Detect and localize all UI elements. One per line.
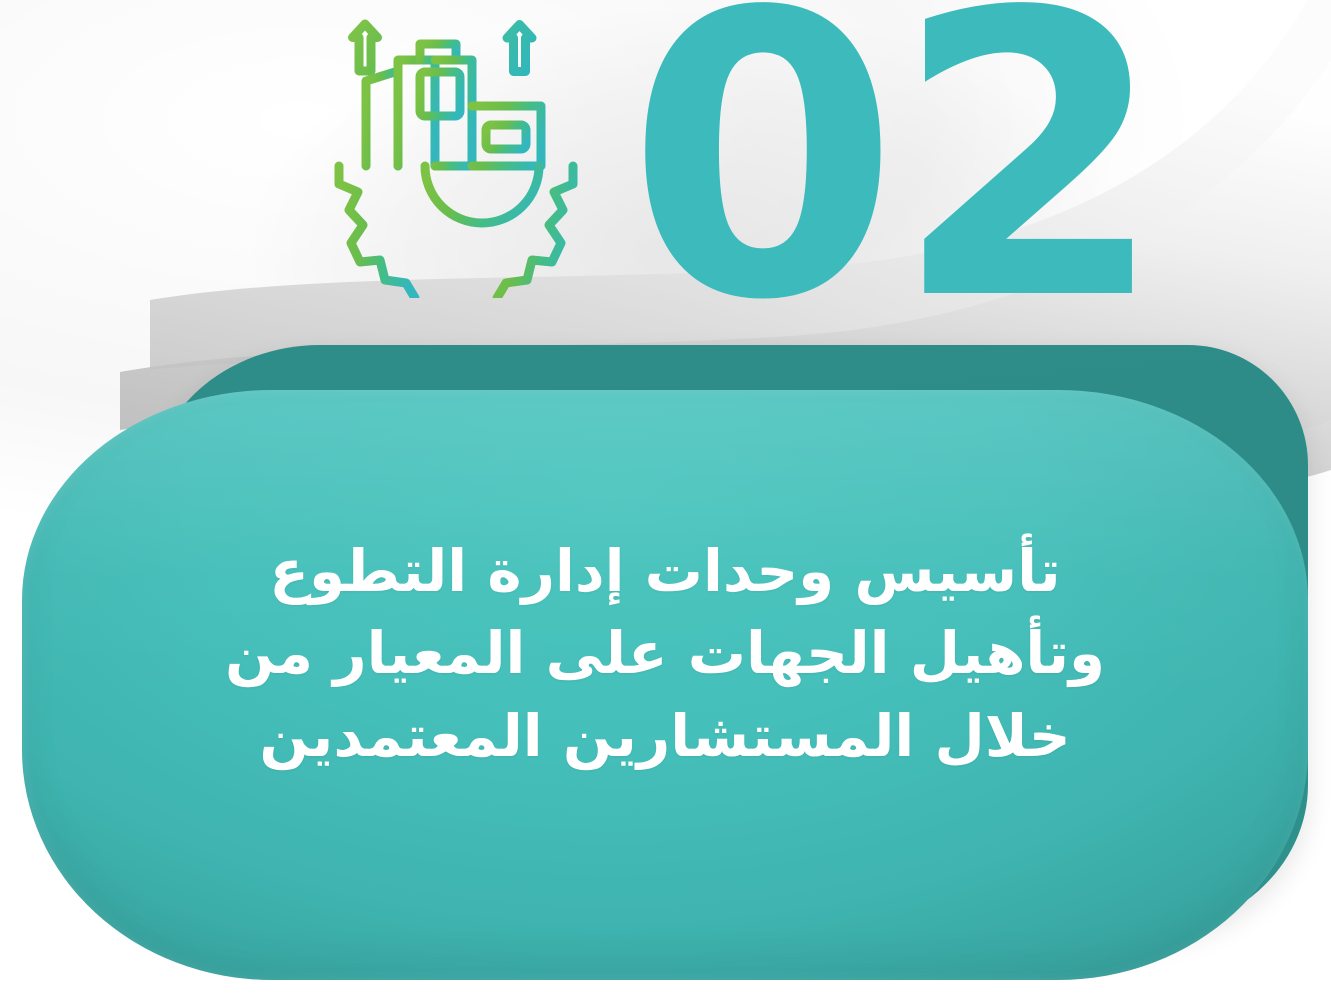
card-description: تأسيس وحدات إدارة التطوع وتأهيل الجهات ع… bbox=[22, 530, 1308, 777]
gear-icon bbox=[339, 166, 573, 298]
arrow-up-left-icon bbox=[353, 24, 378, 71]
card-description-line-1: تأسيس وحدات إدارة التطوع bbox=[142, 530, 1188, 612]
card-description-line-3: خلال المستشارين المعتمدين bbox=[142, 695, 1188, 777]
factory-gear-growth-icon bbox=[327, 8, 637, 298]
step-number-container: 02 bbox=[690, 0, 1160, 322]
step-card: تأسيس وحدات إدارة التطوع وتأهيل الجهات ع… bbox=[22, 390, 1308, 980]
card-description-line-2: وتأهيل الجهات على المعيار من bbox=[142, 612, 1188, 694]
infographic-card-slide: 02 bbox=[0, 0, 1331, 999]
step-number: 02 bbox=[626, 0, 1160, 354]
